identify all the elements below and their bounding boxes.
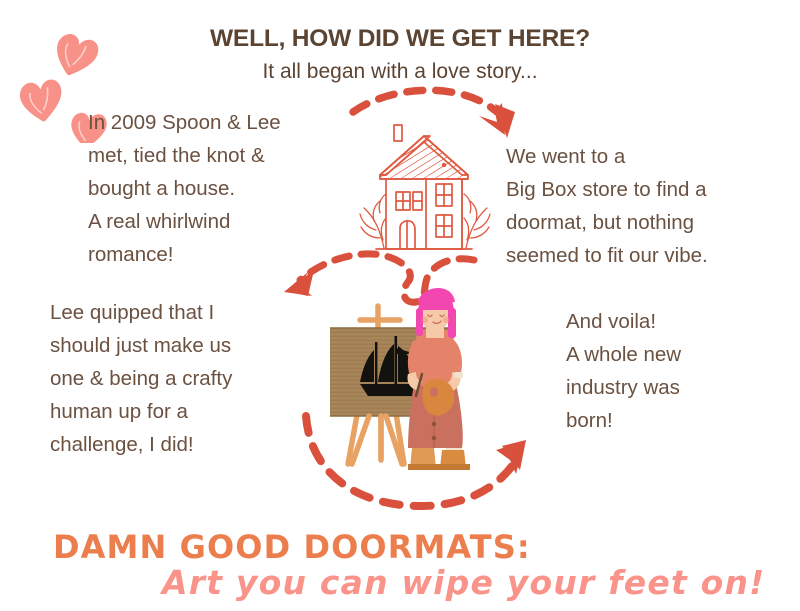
infographic-canvas: WELL, HOW DID WE GET HERE? It all began … xyxy=(0,0,800,611)
story-panel-4: And voila! A whole new industry was born… xyxy=(566,305,792,437)
artist-easel-illustration xyxy=(330,288,505,478)
dashed-u-arc-arrow-up-right-icon xyxy=(296,412,546,520)
story-panel-1: In 2009 Spoon & Lee met, tied the knot &… xyxy=(88,106,348,271)
dashed-arc-arrow-down-right-icon xyxy=(345,82,535,144)
brand-tagline-secondary: Art you can wipe your feet on! xyxy=(162,563,765,602)
story-panel-3: Lee quipped that I should just make us o… xyxy=(50,296,318,461)
house-illustration xyxy=(350,118,500,263)
page-title: WELL, HOW DID WE GET HERE? xyxy=(0,25,800,53)
story-panel-2: We went to a Big Box store to find a doo… xyxy=(506,140,796,272)
page-subtitle: It all began with a love story... xyxy=(0,60,800,84)
brand-tagline-primary: DAMN GOOD DOORMATS: xyxy=(53,528,531,566)
